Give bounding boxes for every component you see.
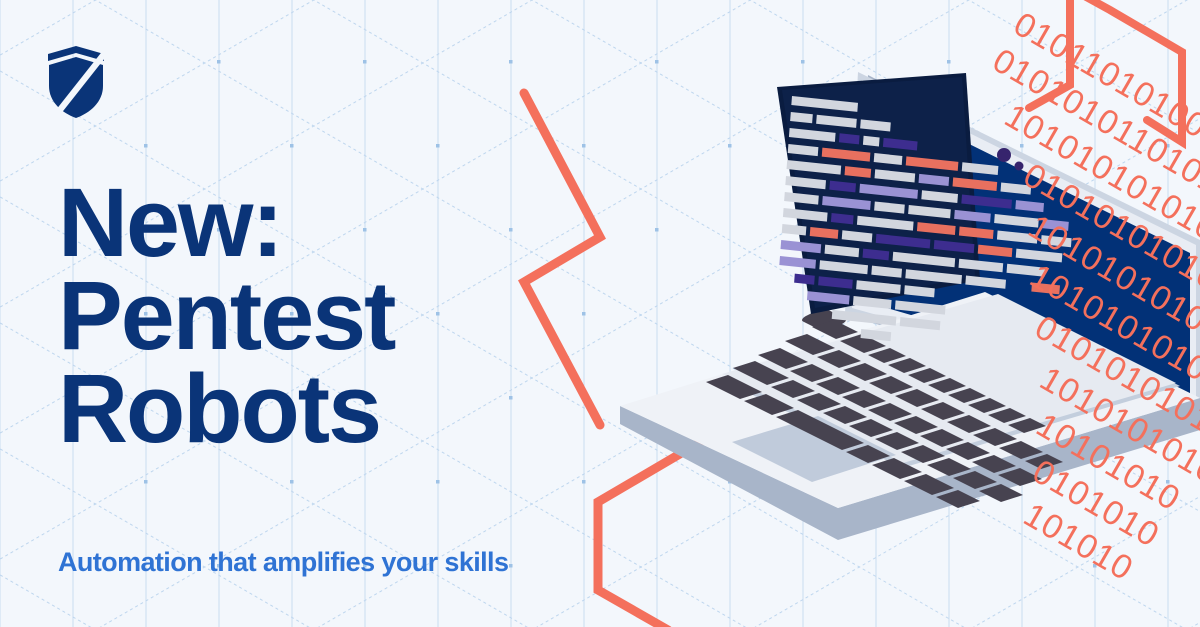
laptop-lid xyxy=(845,72,1200,415)
code-lines xyxy=(775,96,1080,359)
binary-stream: 101010 xyxy=(1017,496,1139,589)
binary-stream: 010101010101 xyxy=(1029,308,1200,460)
binary-stream: 10101010 xyxy=(1030,406,1187,519)
headline-block: New:PentestRobots xyxy=(58,176,394,455)
binary-stream: 1010101010101010101 xyxy=(998,97,1200,319)
key-row-5 xyxy=(706,375,980,508)
headline-line-3: Robots xyxy=(58,362,394,455)
headline-line-1: New: xyxy=(58,176,394,269)
key-row-1 xyxy=(812,320,1046,433)
binary-stream: 010110101001010101010 xyxy=(1007,5,1200,246)
webcam-dot-primary xyxy=(997,148,1011,162)
binary-stream: 101010101010101 xyxy=(1022,207,1200,389)
code-window xyxy=(775,73,1080,359)
headline-line-2: Pentest xyxy=(58,269,394,362)
shield-logo-icon xyxy=(46,44,108,120)
subheadline: Automation that amplifies your skills xyxy=(58,547,508,578)
laptop xyxy=(620,72,1200,540)
key-row-4 xyxy=(733,361,1023,502)
binary-stream: 0101010101010101 xyxy=(1017,156,1200,348)
binary-stream: 01010101101010101010101 xyxy=(986,41,1200,302)
accent-zigzag-left xyxy=(524,93,600,425)
accent-path-top-right xyxy=(1029,0,1182,142)
binary-stream: 10101010101010 xyxy=(1024,257,1200,429)
binary-stream: 0101010 xyxy=(1026,452,1166,555)
laptop-base xyxy=(620,292,1200,540)
key-row-2 xyxy=(785,334,1063,469)
key-row-3 xyxy=(758,348,1042,486)
accent-path-bottom-left xyxy=(598,421,736,627)
page-title: New:PentestRobots xyxy=(58,176,394,455)
binary-stream: 1010101010 xyxy=(1034,360,1200,492)
trackpad xyxy=(732,416,896,482)
keyboard xyxy=(706,307,1063,508)
webcam-dot-secondary xyxy=(1015,162,1024,171)
promo-banner: New:PentestRobots Automation that amplif… xyxy=(0,0,1200,627)
